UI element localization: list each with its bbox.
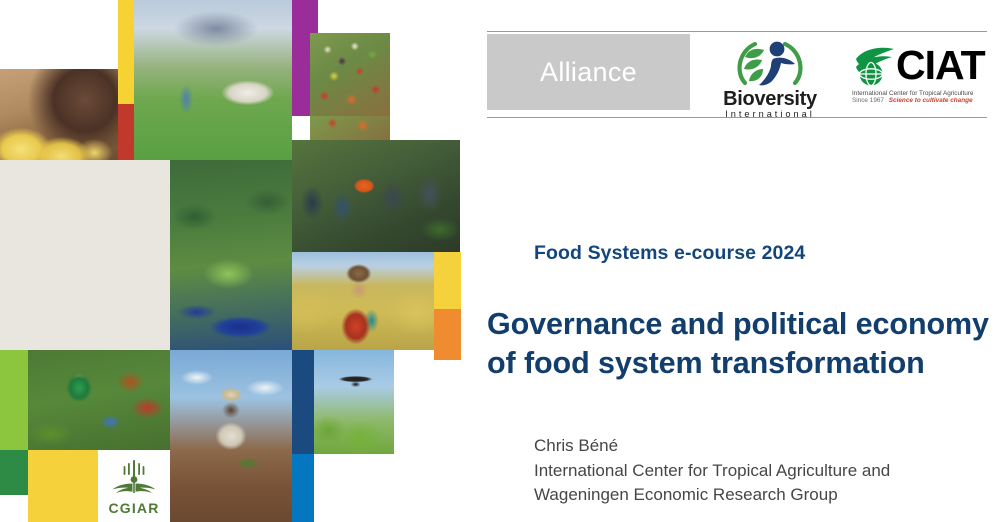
photo-assorted-vegetables-lower [310, 116, 390, 140]
accent-block-navy [292, 350, 314, 454]
cgiar-logo: CGIAR [98, 456, 170, 522]
photo-lab-scientist-flasks [0, 160, 170, 350]
photo-field-training-group [292, 140, 460, 252]
title-slide: CGIAR Alliance Bioversity International [0, 0, 1000, 522]
accent-block-blue [292, 454, 314, 522]
author-block: Chris Béné International Center for Trop… [534, 434, 994, 508]
accent-block-orange [434, 309, 461, 360]
cgiar-wordmark: CGIAR [98, 500, 170, 516]
photo-assorted-vegetables [310, 33, 390, 116]
author-affiliation-line2: Wageningen Economic Research Group [534, 483, 994, 508]
page-title-line1: Governance and political economy [487, 305, 997, 344]
ciat-logo: CIAT International Center for Tropical A… [852, 42, 992, 114]
alliance-logo-box: Alliance [487, 34, 690, 110]
ciat-globe-leaf-icon [852, 43, 898, 87]
photo-aerial-river-forest [170, 160, 292, 350]
photo-market-vendor-greens [28, 350, 170, 450]
cgiar-emblem-icon [111, 456, 157, 500]
ciat-tagline-line2: Since 1967 Science to cultivate change [852, 97, 992, 104]
accent-block-light-green [0, 350, 28, 450]
bioversity-emblem-icon [729, 36, 811, 88]
page-title: Governance and political economy of food… [487, 305, 997, 383]
photo-woman-with-bananas [0, 69, 118, 160]
photo-cattle-in-green-field [134, 0, 292, 160]
course-label: Food Systems e-course 2024 [534, 242, 805, 265]
header-top-rule [487, 31, 987, 32]
bioversity-wordmark: Bioversity [712, 89, 828, 109]
alliance-label: Alliance [540, 57, 637, 88]
accent-block-dark-green [0, 450, 28, 495]
bioversity-subwordmark: International [712, 110, 828, 119]
bioversity-international-logo: Bioversity International [712, 36, 828, 112]
photo-collage: CGIAR [0, 0, 480, 522]
ciat-tagline-line1: International Center for Tropical Agricu… [852, 90, 992, 97]
ciat-tagline-slogan: Science to cultivate change [889, 97, 973, 104]
photo-farmer-planting-seedling [170, 350, 292, 522]
ciat-wordmark: CIAT [896, 45, 985, 86]
author-name: Chris Béné [534, 434, 994, 459]
photo-andean-woman-quinoa [292, 252, 434, 350]
accent-block-yellow-right [434, 252, 461, 309]
page-title-line2: of food system transformation [487, 344, 997, 383]
accent-block-gold-bottom [28, 450, 98, 522]
ciat-tagline-since: Since 1967 [852, 97, 884, 104]
photo-drone-over-rice [314, 350, 394, 454]
author-affiliation-line1: International Center for Tropical Agricu… [534, 459, 994, 484]
